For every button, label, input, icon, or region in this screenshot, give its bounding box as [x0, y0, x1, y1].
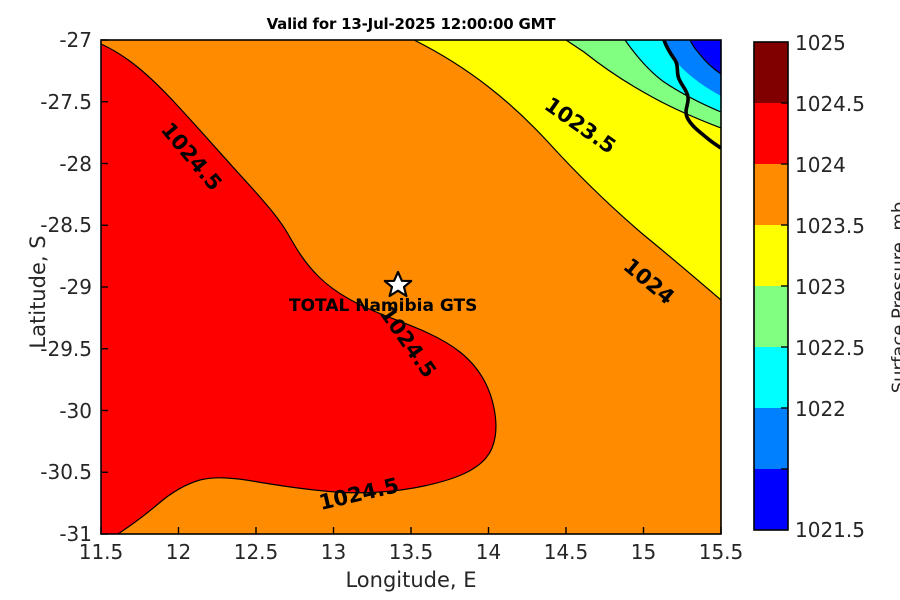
colorbar-tick-label: 1023.5	[795, 214, 865, 238]
x-tick-label: 14.5	[526, 540, 606, 564]
colorbar-swatch-1023p5	[754, 225, 788, 286]
y-tick-label: -27.5	[6, 90, 92, 114]
colorbar-tick-label: 1024	[795, 153, 846, 177]
colorbar-swatch-1021p5	[754, 469, 788, 530]
colorbar-swatch-1022	[754, 408, 788, 469]
y-tick-label: -31	[6, 522, 92, 546]
y-axis-label: Latitude, S	[26, 162, 50, 422]
x-tick-label: 15.5	[681, 540, 761, 564]
x-axis-label: Longitude, E	[101, 568, 721, 592]
colorbar-axis-label: Surface Pressure, mb	[889, 148, 900, 448]
x-tick-label: 13.5	[371, 540, 451, 564]
y-tick-label: -30.5	[6, 460, 92, 484]
y-tick-label: -27	[6, 28, 92, 52]
figure-canvas: Valid for 13-Jul-2025 12:00:00 GMT	[0, 0, 900, 600]
colorbar-swatch-1025	[754, 42, 788, 103]
x-tick-label: 12	[139, 540, 219, 564]
station-label: TOTAL Namibia GTS	[289, 296, 477, 316]
colorbar-tick-label: 1021.5	[795, 518, 865, 542]
colorbar-swatch-1024p5	[754, 103, 788, 164]
colorbar-tick-label: 1022.5	[795, 336, 865, 360]
colorbar-swatch-1023	[754, 286, 788, 347]
x-tick-label: 14	[449, 540, 529, 564]
colorbar-tick-label: 1023	[795, 275, 846, 299]
x-tick-label: 15	[604, 540, 684, 564]
colorbar-tick-label: 1022	[795, 397, 846, 421]
colorbar-tick-label: 1025	[795, 31, 846, 55]
colorbar	[754, 42, 788, 530]
x-tick-label: 13	[294, 540, 374, 564]
colorbar-swatch-1024	[754, 164, 788, 225]
colorbar-swatch-1022p5	[754, 347, 788, 408]
colorbar-tick-label: 1024.5	[795, 92, 865, 116]
filled-contour-bands	[101, 40, 721, 534]
x-tick-label: 12.5	[216, 540, 296, 564]
